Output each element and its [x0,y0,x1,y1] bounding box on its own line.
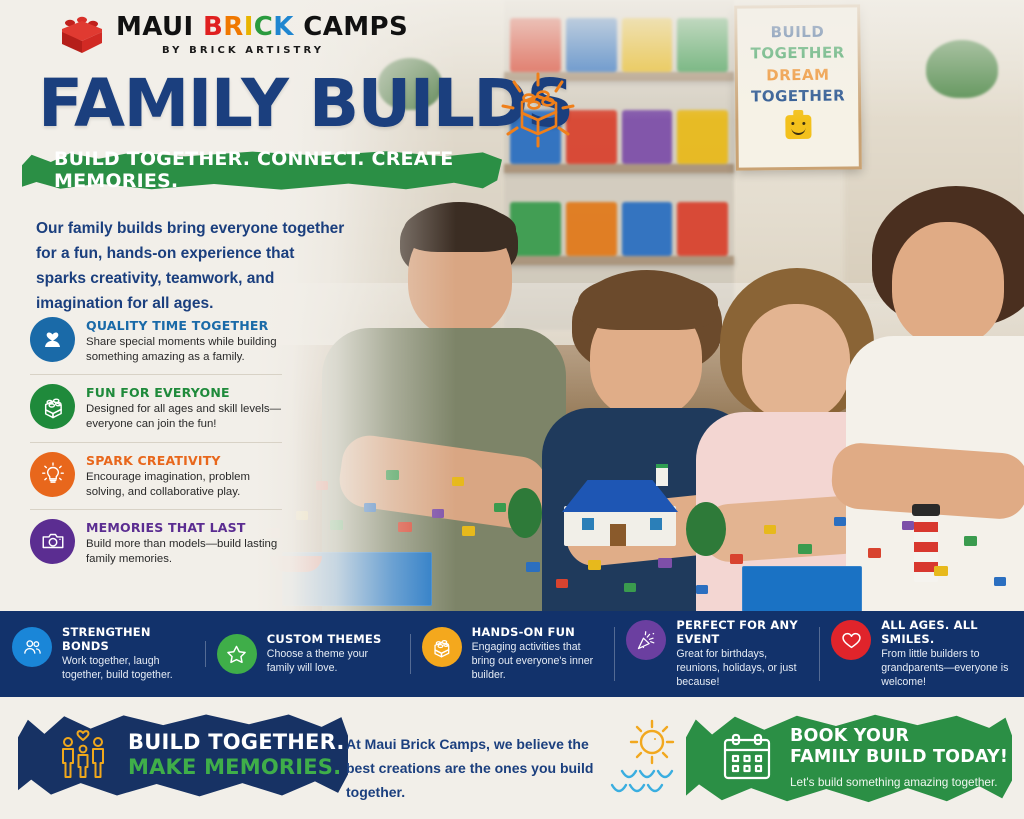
band-item-custom-themes[interactable]: CUSTOM THEMES Choose a theme your family… [205,632,410,676]
hero-banner-label: BUILD TOGETHER. CONNECT. CREATE MEMORIES… [22,150,502,190]
band-item-all-ages-all-smiles[interactable]: ALL AGES. ALL SMILES. From little builde… [819,618,1024,690]
lego-brick-icon [422,627,462,667]
sun-and-waves-icon [596,715,700,801]
footer-navy-inner: BUILD TOGETHER. MAKE MEMORIES. [18,711,348,799]
party-popper-icon [626,620,666,660]
band-item-body: PERFECT FOR ANY EVENT Great for birthday… [676,618,807,690]
feature-item-fun-for-everyone[interactable]: FUN FOR EVERYONE Designed for all ages a… [30,375,282,442]
band-item-title: STRENGTHEN BONDS [62,625,193,653]
two-people-icon [12,627,52,667]
band-item-desc: From little builders to grandparents—eve… [881,648,1012,690]
feature-body: MEMORIES THAT LAST Build more than model… [86,519,282,567]
star-icon [217,634,257,674]
feature-desc: Share special moments while building som… [86,335,282,365]
band-item-perfect-for-any-event[interactable]: PERFECT FOR ANY EVENT Great for birthday… [614,618,819,690]
footer-navy-text: BUILD TOGETHER. MAKE MEMORIES. [128,730,345,780]
band-item-desc: Great for birthdays, reunions, holidays,… [676,648,807,690]
brand-logo[interactable]: MAUI BRICK CAMPS BY BRICK ARTISTRY [58,14,408,56]
band-item-desc: Work together, laugh together, build tog… [62,655,193,683]
intro-paragraph: Our family builds bring everyone togethe… [36,216,346,316]
cta-inner: BOOK YOUR FAMILY BUILD TODAY! Let's buil… [686,711,1012,805]
footer-navy-line2: MAKE MEMORIES. [128,755,345,780]
band-item-strengthen-bonds[interactable]: STRENGTHEN BONDS Work together, laugh to… [0,625,205,683]
feature-body: SPARK CREATIVITY Encourage imagination, … [86,452,282,500]
band-item-body: STRENGTHEN BONDS Work together, laugh to… [62,625,193,683]
band-item-body: HANDS-ON FUN Engaging activities that br… [472,625,603,683]
band-item-desc: Engaging activities that bring out every… [472,641,603,683]
feature-desc: Build more than models—build lasting fam… [86,537,282,567]
band-item-body: ALL AGES. ALL SMILES. From little builde… [881,618,1012,690]
feature-title: QUALITY TIME TOGETHER [86,318,282,333]
feature-desc: Encourage imagination, problem solving, … [86,470,282,500]
feature-desc: Designed for all ages and skill levels—e… [86,402,282,432]
lego-brick-icon [30,384,75,429]
feature-item-memories-that-last[interactable]: MEMORIES THAT LAST Build more than model… [30,510,282,576]
band-item-title: PERFECT FOR ANY EVENT [676,618,807,646]
cta-book-family-build[interactable]: BOOK YOUR FAMILY BUILD TODAY! Let's buil… [686,711,1012,805]
band-item-title: CUSTOM THEMES [267,632,398,646]
benefits-band: STRENGTHEN BONDS Work together, laugh to… [0,611,1024,697]
family-heart-icon [30,317,75,362]
footer-navy-line1: BUILD TOGETHER. [128,730,345,755]
band-item-desc: Choose a theme your family will love. [267,648,398,676]
page-title: FAMILY BUILDS [38,72,573,137]
cta-subtitle: Let's build something amazing together. [790,774,1008,791]
calendar-icon [720,731,774,785]
sparkling-brick-icon [498,72,578,152]
family-group-icon [54,727,112,783]
band-item-title: HANDS-ON FUN [472,625,603,639]
hero-banner: BUILD TOGETHER. CONNECT. CREATE MEMORIES… [22,150,502,190]
brand-logo-text: MAUI BRICK CAMPS BY BRICK ARTISTRY [116,14,408,56]
lego-brick-icon [58,15,104,55]
brand-tagline: BY BRICK ARTISTRY [116,46,408,56]
feature-title: FUN FOR EVERYONE [86,385,282,400]
feature-body: FUN FOR EVERYONE Designed for all ages a… [86,384,282,432]
footer: BUILD TOGETHER. MAKE MEMORIES. At Maui B… [0,697,1024,819]
cta-text: BOOK YOUR FAMILY BUILD TODAY! Let's buil… [790,726,1008,791]
feature-body: QUALITY TIME TOGETHER Share special mome… [86,317,282,365]
footer-mid-text: At Maui Brick Camps, we believe the best… [346,733,608,804]
feature-list: QUALITY TIME TOGETHER Share special mome… [30,308,282,576]
feature-item-quality-time[interactable]: QUALITY TIME TOGETHER Share special mome… [30,308,282,375]
camera-icon [30,519,75,564]
band-item-title: ALL AGES. ALL SMILES. [881,618,1012,646]
cta-title-line1: BOOK YOUR [790,726,1008,747]
feature-title: SPARK CREATIVITY [86,453,282,468]
cta-title-line2: FAMILY BUILD TODAY! [790,747,1008,768]
footer-navy-badge: BUILD TOGETHER. MAKE MEMORIES. [18,711,348,799]
feature-item-spark-creativity[interactable]: SPARK CREATIVITY Encourage imagination, … [30,443,282,510]
feature-title: MEMORIES THAT LAST [86,520,282,535]
poster-root: BUILD TOGETHER DREAM TOGETHER [0,0,1024,819]
photo-lego-house [556,474,684,546]
heart-icon [831,620,871,660]
band-item-hands-on-fun[interactable]: HANDS-ON FUN Engaging activities that br… [410,625,615,683]
band-item-body: CUSTOM THEMES Choose a theme your family… [267,632,398,676]
brand-name: MAUI BRICK CAMPS [116,14,408,40]
lightbulb-icon [30,452,75,497]
